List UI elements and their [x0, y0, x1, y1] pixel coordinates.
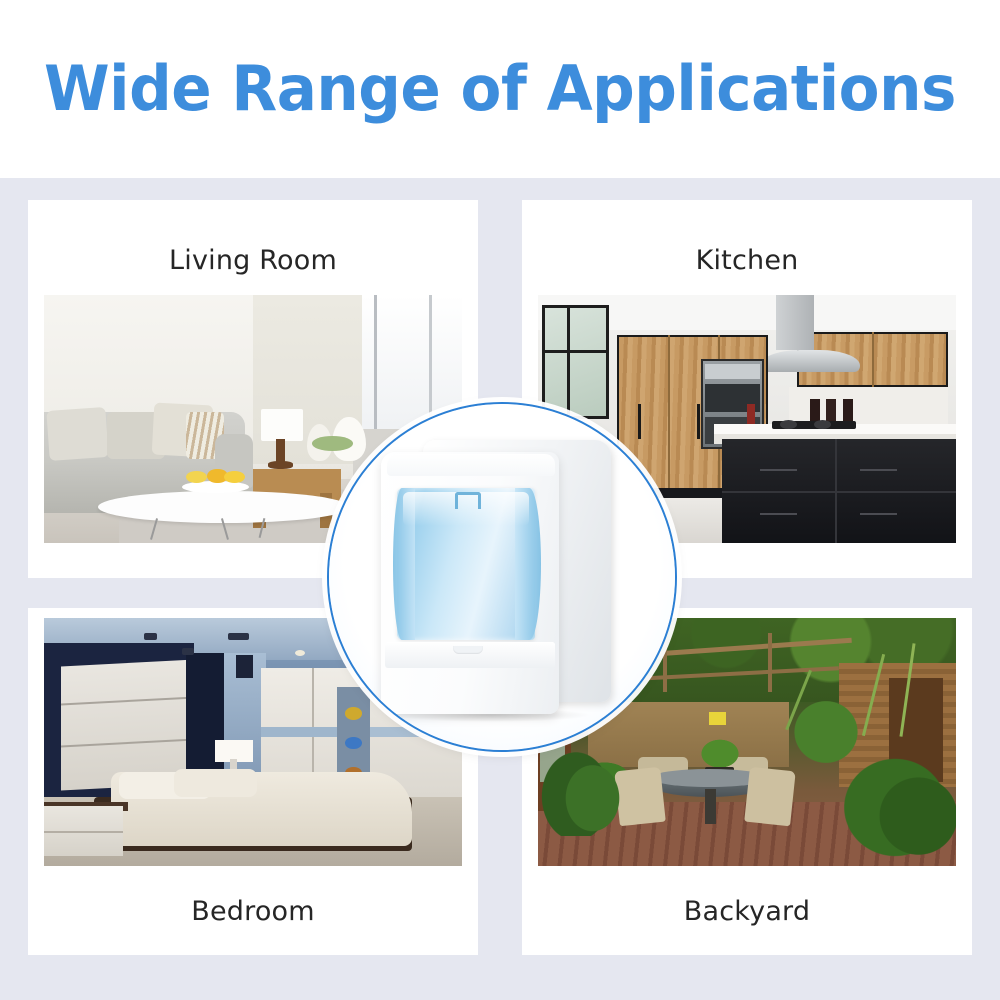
headboard-panel: [61, 659, 195, 790]
range-hood-stack: [776, 295, 814, 350]
window-bar-2: [567, 305, 570, 419]
card-label-living-room: Living Room: [28, 245, 478, 276]
page-title: Wide Range of Applications: [44, 58, 956, 120]
pillow-2: [174, 769, 258, 796]
range-hood: [760, 350, 860, 372]
coffee-table: [98, 491, 349, 523]
lamp-base: [268, 461, 293, 468]
niche-ornament-2: [345, 737, 362, 749]
ceiling-spotlight-3: [228, 633, 249, 640]
niche-ornament: [345, 707, 362, 719]
island-handle: [760, 469, 798, 471]
cabinet-handle: [638, 404, 641, 439]
lamp-stem: [276, 439, 284, 464]
nightstand-drawer-line: [44, 831, 123, 833]
distribution-box-product: [381, 440, 621, 720]
window-frame: [542, 305, 609, 419]
upper-cabinet-divider: [872, 332, 874, 387]
palm-right-2: [864, 762, 956, 866]
application-poster: Wide Range of Applications Living Room: [0, 0, 1000, 1000]
door-latch-notch: [455, 492, 481, 509]
yellow-sign: [709, 712, 726, 724]
product-image-inset: [327, 402, 677, 752]
card-label-bedroom: Bedroom: [28, 896, 478, 927]
island-drawer-line: [722, 491, 956, 493]
card-label-kitchen: Kitchen: [522, 245, 972, 276]
wall-speaker: [236, 655, 253, 677]
island-handle-3: [760, 513, 798, 515]
oven-control-panel: [705, 364, 759, 379]
ceiling-spotlight: [144, 633, 157, 640]
cooktop-burner-2: [814, 420, 831, 429]
ceiling-spotlight-2: [182, 648, 195, 655]
wine-bottle-3: [843, 399, 853, 424]
card-label-backyard: Backyard: [522, 896, 972, 927]
cabinet-handle-2: [697, 404, 700, 439]
island-handle-2: [860, 469, 898, 471]
patio-table-leg: [705, 789, 715, 824]
island-handle-4: [860, 513, 898, 515]
cabinet-divider: [668, 335, 670, 494]
enclosure-top-highlight: [387, 454, 555, 476]
window-bar: [542, 350, 609, 353]
title-band: Wide Range of Applications: [0, 0, 1000, 178]
cushion: [47, 407, 109, 461]
pergola-post-2: [768, 633, 772, 693]
enclosure-base-clip: [453, 646, 483, 654]
palm-left-2: [555, 752, 630, 836]
lamp-shade: [261, 409, 303, 441]
patio-chair-2: [744, 767, 795, 826]
